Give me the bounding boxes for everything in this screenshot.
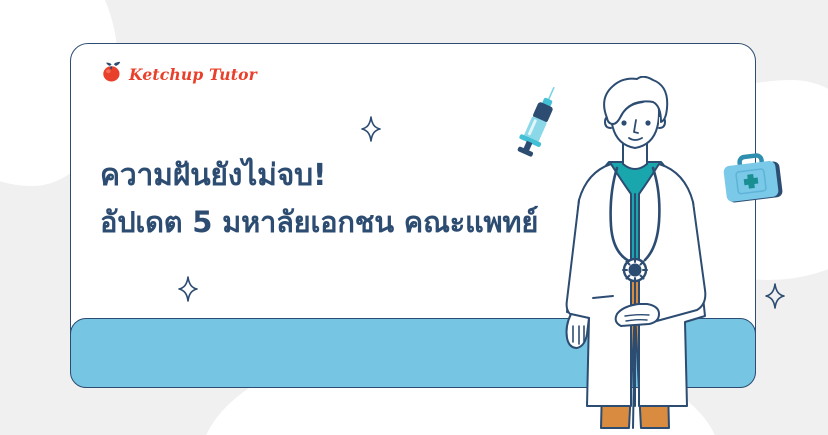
tomato-icon — [100, 61, 124, 88]
headline: ความฝันยังไม่จบ! อัปเดต 5 มหาลัยเอกชน คณ… — [100, 152, 538, 246]
headline-line-1: ความฝันยังไม่จบ! — [100, 152, 538, 199]
brand-logo-text: Ketchup Tutor — [129, 65, 257, 84]
sparkle-icon — [765, 283, 785, 314]
poster-canvas: Ketchup Tutor ความฝันยังไม่จบ! อัปเดต 5 … — [0, 0, 828, 435]
brand-logo: Ketchup Tutor — [100, 60, 257, 88]
footer-bar — [70, 318, 756, 388]
headline-line-2: อัปเดต 5 มหาลัยเอกชน คณะแพทย์ — [100, 199, 538, 246]
